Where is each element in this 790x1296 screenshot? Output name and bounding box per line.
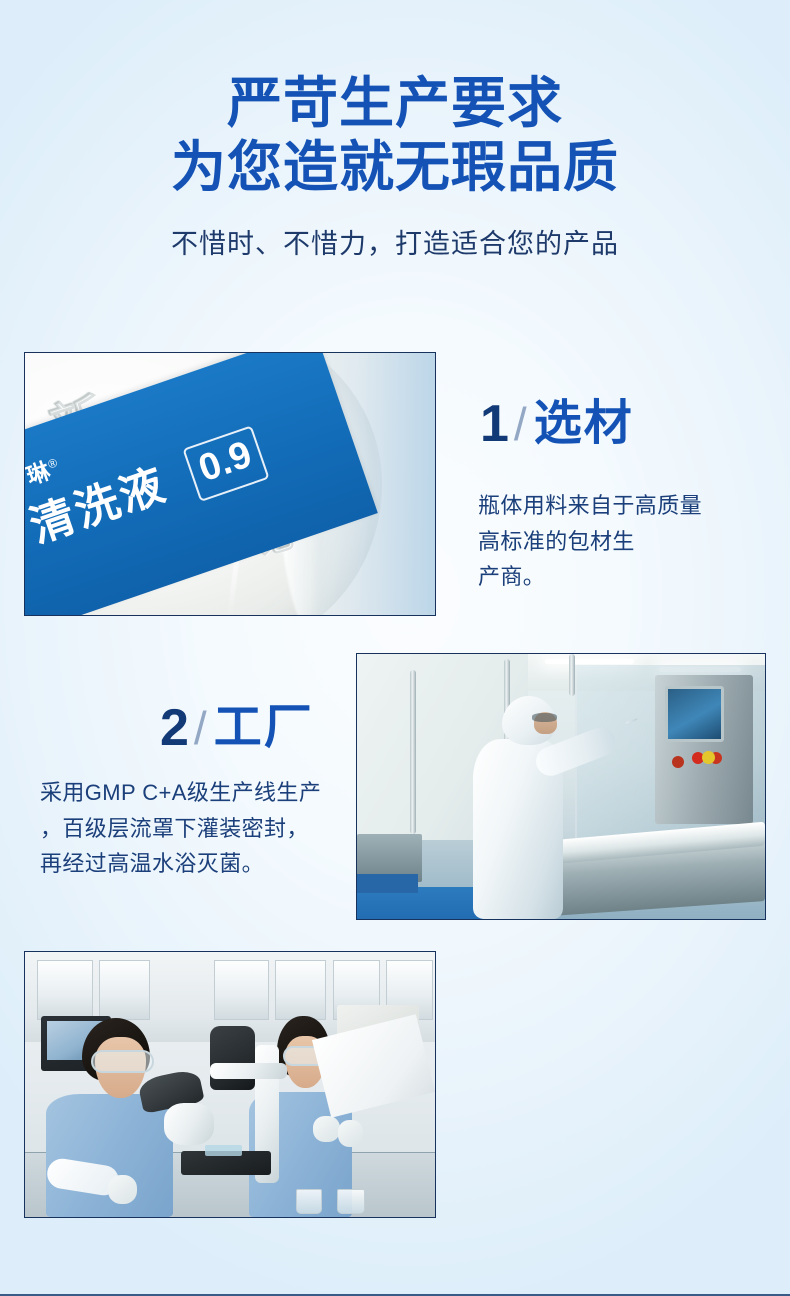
cleanroom-production-photo <box>356 653 766 920</box>
section-2-separator: / <box>194 702 207 754</box>
laboratory-scene <box>25 952 435 1217</box>
lab-beaker-1 <box>296 1189 323 1215</box>
section-2-heading: 2/工厂 <box>160 702 314 754</box>
wall-pipe-3 <box>569 654 575 696</box>
page-title-line-2: 为您造就无瑕品质 <box>0 138 790 196</box>
section-2-body-line-3: 再经过高温水浴灭菌。 <box>40 846 321 882</box>
section-1-body-line-3: 产商。 <box>478 559 702 595</box>
microscope-objective-turret <box>164 1103 213 1145</box>
section-2-body: 采用GMP C+A级生产线生产 ，百级层流罩下灌装密封， 再经过高温水浴灭菌。 <box>40 775 321 882</box>
cleanroom-scene <box>357 654 765 919</box>
cleanroom-worker <box>463 696 585 919</box>
section-1-body: 瓶体用料来自于高质量 高标准的包材生 产商。 <box>478 488 702 595</box>
lab-beaker-2 <box>337 1189 366 1215</box>
section-1-heading: 1/选材 <box>480 398 634 450</box>
microscope-illuminator <box>210 1026 255 1090</box>
section-2-number: 2 <box>160 699 189 757</box>
male-safety-goggles <box>91 1050 154 1073</box>
female-glove-right <box>338 1120 363 1146</box>
bottle-label-concentration: 0.9 <box>182 425 269 502</box>
page-title-line-1: 严苛生产要求 <box>0 74 790 132</box>
bottle-closeup-photo: 新 纺 必 琳® 清洗液 0.9 <box>24 352 436 616</box>
section-2-body-line-2: ，百级层流罩下灌装密封， <box>40 811 321 847</box>
bottle-scene: 新 纺 必 琳® 清洗液 0.9 <box>25 353 435 615</box>
section-1-separator: / <box>514 398 527 450</box>
section-2-body-line-1: 采用GMP C+A级生产线生产 <box>40 775 321 811</box>
page-header: 严苛生产要求 为您造就无瑕品质 不惜时、不惜力，打造适合您的产品 <box>0 74 790 261</box>
laboratory-inspection-photo <box>24 951 436 1218</box>
section-1-body-line-2: 高标准的包材生 <box>478 524 702 560</box>
female-glove-left <box>313 1116 339 1142</box>
section-1-number: 1 <box>480 395 509 453</box>
machine-status-light <box>702 751 715 764</box>
wall-pipe-1 <box>410 670 416 834</box>
worker-goggles <box>532 713 558 722</box>
cleanroom-cart-base <box>357 874 418 893</box>
microscope-specimen-slide <box>205 1145 242 1156</box>
lab-window-3 <box>214 960 269 1020</box>
microscope-bracket <box>210 1063 288 1079</box>
section-1-body-line-1: 瓶体用料来自于高质量 <box>478 488 702 524</box>
machine-control-screen <box>665 686 724 742</box>
section-1-title: 选材 <box>534 397 634 450</box>
lab-window-4 <box>275 960 326 1020</box>
product-detail-page: 严苛生产要求 为您造就无瑕品质 不惜时、不惜力，打造适合您的产品 新 纺 必 琳… <box>0 0 790 1296</box>
section-2-title: 工厂 <box>214 701 314 754</box>
page-subtitle: 不惜时、不惜力，打造适合您的产品 <box>0 222 790 261</box>
male-glove <box>108 1175 138 1205</box>
ceiling-light-1 <box>545 659 635 664</box>
